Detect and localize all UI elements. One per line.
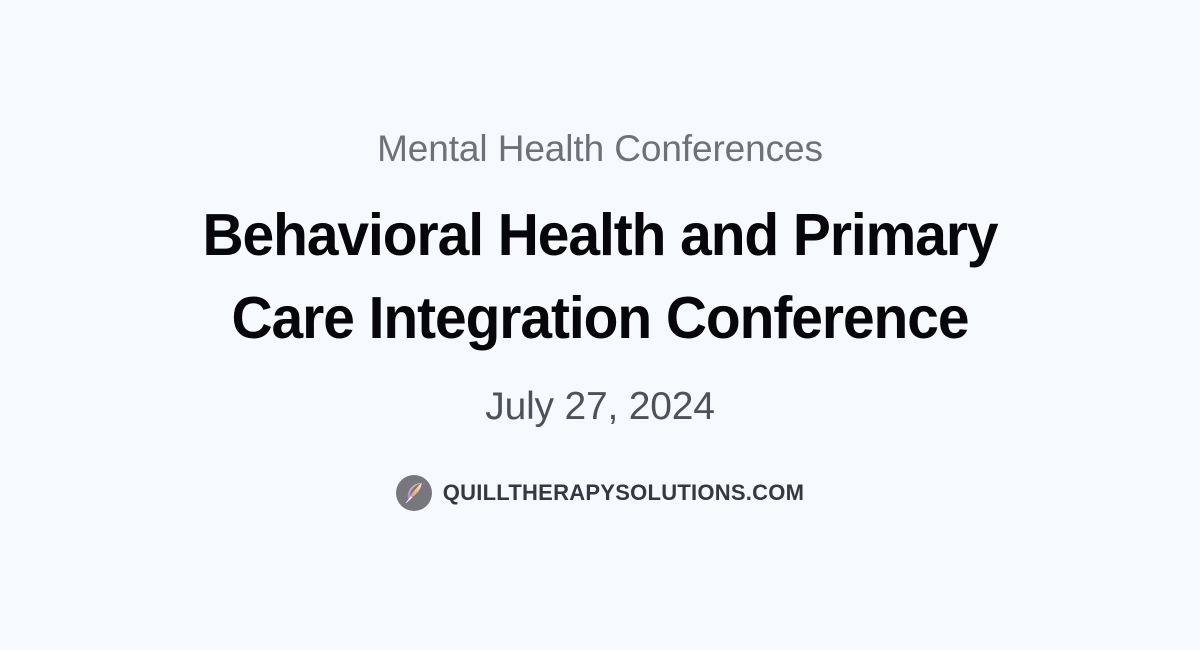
site-url: QUILLTHERAPYSOLUTIONS.COM	[443, 479, 805, 507]
event-announcement-card: Mental Health Conferences Behavioral Hea…	[0, 0, 1200, 650]
page-title: Behavioral Health and Primary Care Integ…	[89, 174, 1112, 360]
page-title-line-1: Behavioral Health and Primary	[89, 194, 1112, 277]
page-title-line-2: Care Integration Conference	[89, 277, 1112, 360]
card-content: Mental Health Conferences Behavioral Hea…	[70, 124, 1130, 511]
brand-footer: QUILLTHERAPYSOLUTIONS.COM	[70, 433, 1130, 511]
feather-quill-icon	[396, 475, 432, 511]
category-kicker: Mental Health Conferences	[70, 124, 1130, 174]
event-date: July 27, 2024	[70, 360, 1130, 433]
